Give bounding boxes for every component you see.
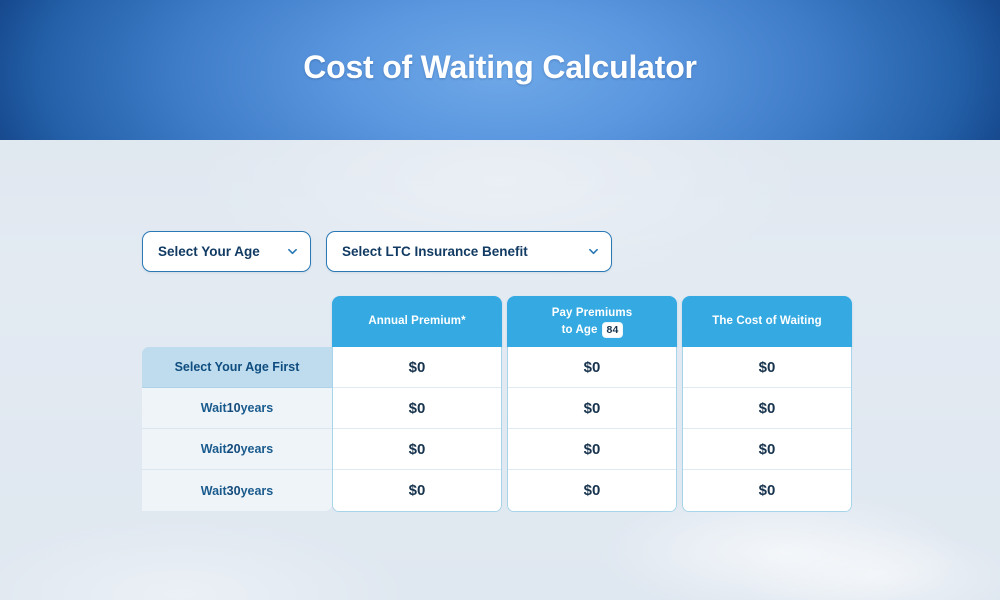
table-row-label: Wait 10 years [142,388,332,429]
table-cell: $0 [333,388,501,429]
column-annual-premium: Annual Premium* $0 $0 $0 $0 [332,296,502,512]
table-cell: $0 [683,347,851,388]
page-title: Cost of Waiting Calculator [0,49,1000,86]
column-header-line1: The Cost of Waiting [712,313,821,330]
row-label-suffix: years [241,401,274,415]
row-label-prefix: Wait [201,401,227,415]
column-header: Annual Premium* [332,296,502,347]
table-row-label: Select Your Age First [142,347,332,388]
age-badge-input[interactable]: 84 [603,323,623,337]
row-label-number: 30 [227,484,241,498]
selector-row: Select Your Age Select LTC Insurance Ben… [142,231,612,272]
table-cell: $0 [508,429,676,470]
chevron-down-icon [288,247,297,256]
column-header-line2-group: to Age 84 [562,322,623,339]
page-background: Cost of Waiting Calculator Select Your A… [0,0,1000,600]
page-banner: Cost of Waiting Calculator [0,0,1000,140]
column-header: The Cost of Waiting [682,296,852,347]
row-label-prefix: Wait [201,442,227,456]
select-your-age-label: Select Your Age [158,244,260,259]
row-label-number: 10 [227,401,241,415]
column-header-line1: Annual Premium* [368,313,465,330]
table-row-label: Wait 30 years [142,470,332,511]
select-ltc-benefit-dropdown[interactable]: Select LTC Insurance Benefit [326,231,612,272]
table-cell: $0 [333,429,501,470]
column-body: $0 $0 $0 $0 [332,347,502,512]
row-label-prefix: Wait [201,484,227,498]
column-header-line1: Pay Premiums [552,305,632,322]
column-header: Pay Premiums to Age 84 [507,296,677,347]
table-row-label: Wait 20 years [142,429,332,470]
select-ltc-benefit-label: Select LTC Insurance Benefit [342,244,528,259]
column-body: $0 $0 $0 $0 [682,347,852,512]
column-body: $0 $0 $0 $0 [507,347,677,512]
table-cell: $0 [508,470,676,511]
row-label-column: Select Your Age First Wait 10 years Wait… [142,296,332,511]
column-header-line2: to Age [562,322,598,339]
table-cell: $0 [333,470,501,511]
row-label-suffix: years [241,484,274,498]
chevron-down-icon [589,247,598,256]
table-cell: $0 [508,347,676,388]
select-your-age-dropdown[interactable]: Select Your Age [142,231,311,272]
results-table: Select Your Age First Wait 10 years Wait… [142,296,852,512]
row-label-text: Select Your Age First [175,360,300,374]
row-label-suffix: years [241,442,274,456]
table-cell: $0 [683,388,851,429]
column-cost-of-waiting: The Cost of Waiting $0 $0 $0 $0 [682,296,852,512]
table-cell: $0 [683,470,851,511]
table-cell: $0 [508,388,676,429]
table-cell: $0 [333,347,501,388]
row-label-number: 20 [227,442,241,456]
column-pay-premiums-to-age: Pay Premiums to Age 84 $0 $0 $0 $0 [507,296,677,512]
table-cell: $0 [683,429,851,470]
